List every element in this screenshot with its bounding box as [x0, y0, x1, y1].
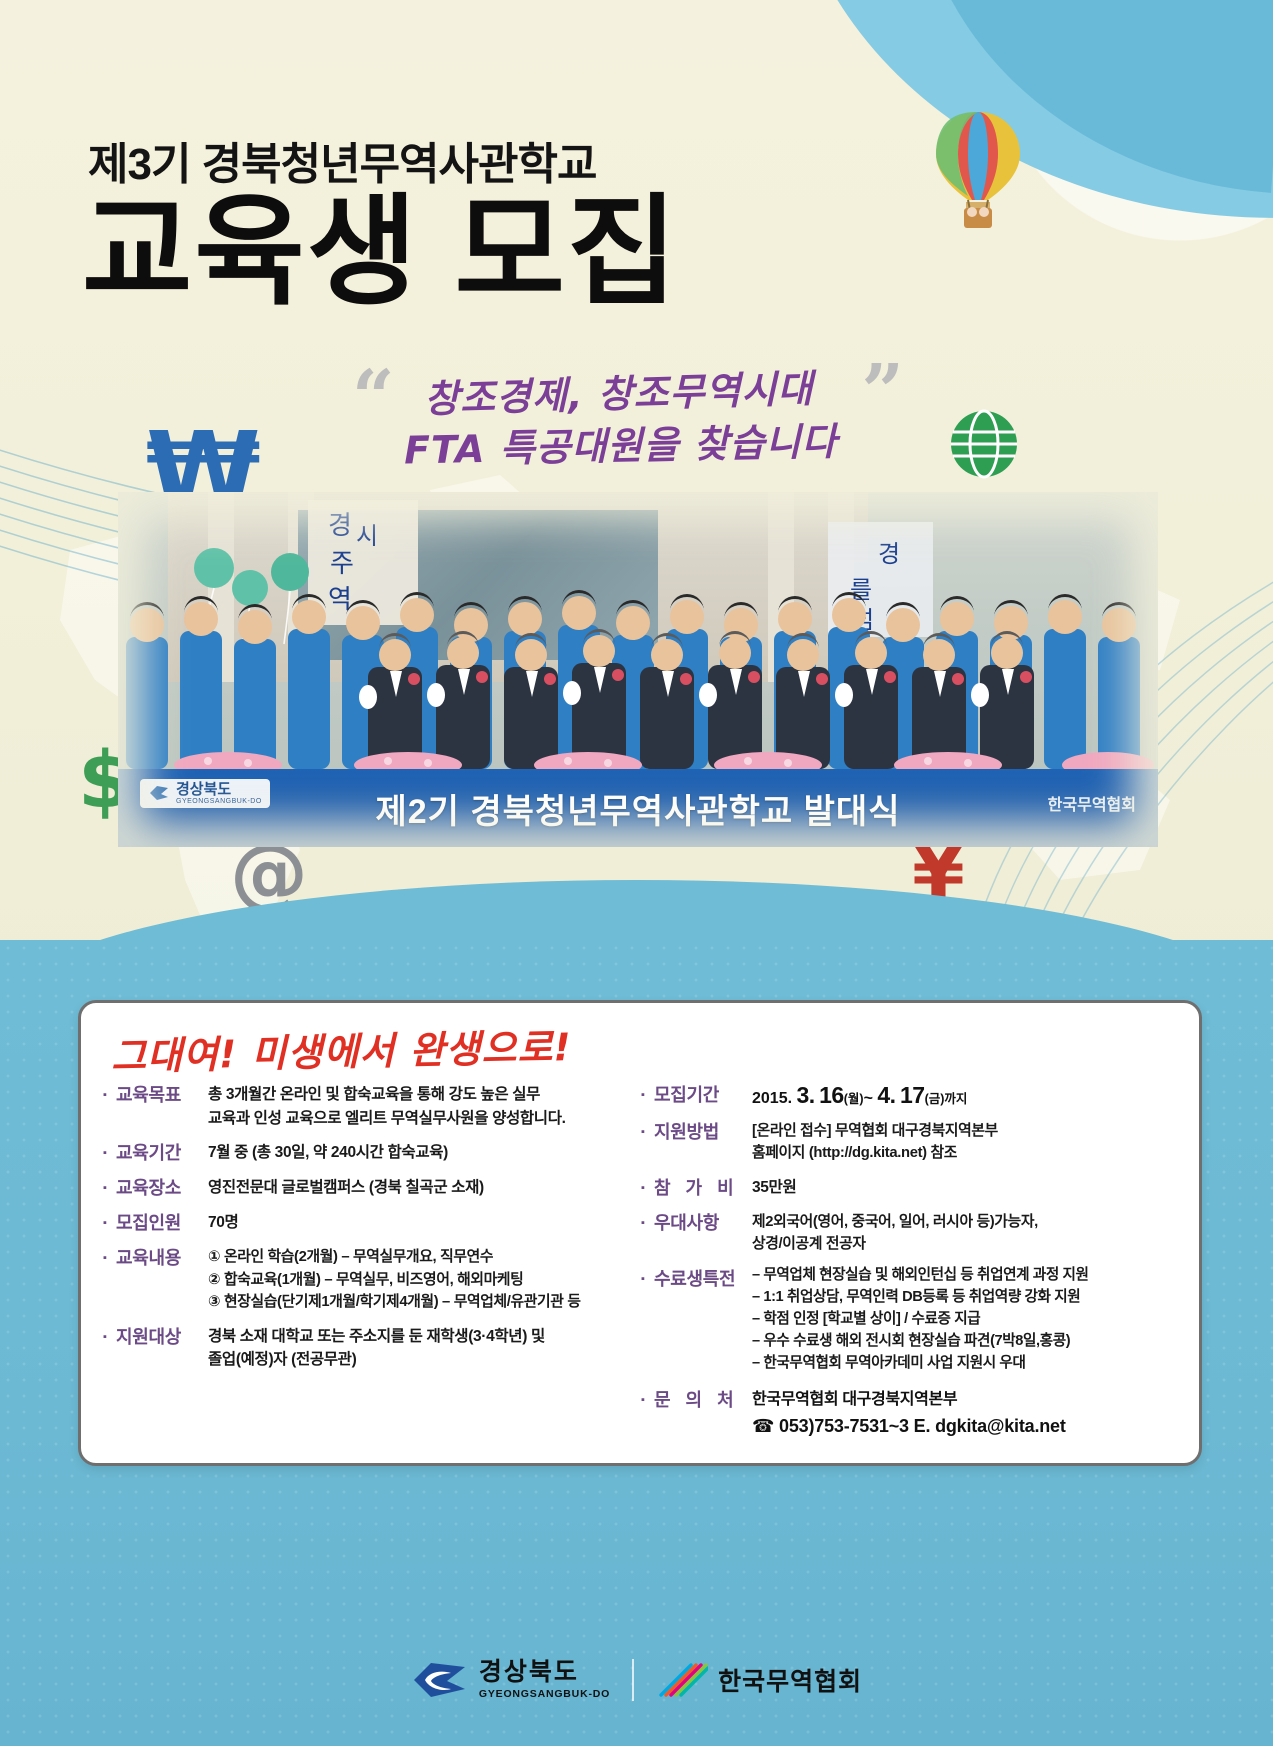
- period-start-month: 3.: [797, 1082, 815, 1108]
- period-year: 2015.: [752, 1090, 792, 1107]
- banner-logo-gb-english: GYEONGSANGBUK-DO: [176, 798, 262, 805]
- contact-phone-email-text: 053)753-7531~3 E. dgkita@kita.net: [779, 1416, 1066, 1436]
- hot-air-balloon-icon: [922, 108, 1034, 238]
- info-value-apply-method: [온라인 접수] 무역협회 대구경북지역본부 홈페이지 (http://dg.k…: [752, 1118, 1181, 1165]
- logo-kita: 한국무역협회: [656, 1659, 862, 1701]
- info-label-period: 모집기간: [654, 1081, 752, 1107]
- info-label-eligibility: 지원대상: [116, 1323, 208, 1349]
- banner-title-text: 제2기 경북청년무역사관학교 발대식: [375, 784, 900, 833]
- bullet-icon: ▪: [641, 1395, 650, 1406]
- contact-office-name: 한국무역협회 대구경북지역본부: [752, 1388, 1181, 1412]
- tagline-line-2: FTA 특공대원을 찾습니다: [403, 410, 838, 474]
- info-label-fee: 참 가 비: [654, 1174, 752, 1200]
- benefit-item: – 한국무역협회 무역아카데미 사업 지원시 우대: [752, 1353, 1089, 1375]
- globe-icon: [948, 408, 1020, 480]
- poster-headline: 교육생 모집: [82, 192, 679, 312]
- bullet-icon: ▪: [103, 1332, 112, 1343]
- info-card-title: 그대여! 미생에서 완생으로!: [110, 1016, 572, 1081]
- benefit-item: – 학점 인정 [학교별 상이] / 수료증 지급: [752, 1309, 1089, 1331]
- phone-icon: ☎: [752, 1416, 774, 1436]
- info-row-venue: ▪ 교육장소 영진전문대 글로벌캠퍼스 (경북 칠곡군 소재): [103, 1174, 633, 1200]
- info-value-eligibility: 경북 소재 대학교 또는 주소지를 둔 재학생(3·4학년) 및 졸업(예정)자…: [208, 1323, 633, 1372]
- info-row-benefits: ▪ 수료생특전 – 무역업체 현장실습 및 해외인턴십 등 취업연계 과정 지원…: [641, 1265, 1181, 1374]
- info-value-venue: 영진전문대 글로벌캠퍼스 (경북 칠곡군 소재): [208, 1174, 633, 1200]
- info-row-contact: ▪ 문 의 처 한국무역협회 대구경북지역본부 ☎ 053)753-7531~3…: [641, 1386, 1181, 1440]
- bullet-icon: ▪: [641, 1274, 650, 1285]
- period-start-dow: (월): [844, 1092, 864, 1106]
- info-row-goal: ▪ 교육목표 총 3개월간 온라인 및 합숙교육을 통해 강도 높은 실무 교육…: [103, 1081, 633, 1130]
- gb-english-label: GYEONGSANGBUK-DO: [479, 1688, 610, 1700]
- info-card: 그대여! 미생에서 완생으로! ▪ 교육목표 총 3개월간 온라인 및 합숙교육…: [78, 1000, 1202, 1466]
- info-value-contact: 한국무역협회 대구경북지역본부 ☎ 053)753-7531~3 E. dgki…: [752, 1386, 1181, 1440]
- info-row-preference: ▪ 우대사항 제2외국어(영어, 중국어, 일어, 러시아 등)가능자, 상경/…: [641, 1209, 1181, 1256]
- apply-method-line1: [온라인 접수] 무역협회 대구경북지역본부: [752, 1120, 1181, 1142]
- gyeongsangbuk-logo-icon: [411, 1659, 469, 1701]
- photo-crowd: [118, 579, 1158, 769]
- bullet-icon: ▪: [641, 1218, 650, 1229]
- preference-line2: 상경/이공계 전공자: [752, 1233, 1181, 1255]
- info-value-preference: 제2외국어(영어, 중국어, 일어, 러시아 등)가능자, 상경/이공계 전공자: [752, 1209, 1181, 1256]
- info-row-eligibility: ▪ 지원대상 경북 소재 대학교 또는 주소지를 둔 재학생(3·4학년) 및 …: [103, 1323, 633, 1372]
- period-suffix: 까지: [944, 1092, 967, 1106]
- info-row-period: ▪ 모집기간 2015. 3. 16(월)~ 4. 17(금)까지: [641, 1081, 1181, 1109]
- info-row-duration: ▪ 교육기간 7월 중 (총 30일, 약 240시간 합숙교육): [103, 1139, 633, 1165]
- info-label-headcount: 모집인원: [116, 1209, 208, 1235]
- banner-logo-kita: 한국무역협회: [1048, 791, 1136, 815]
- photo-event-banner: 경상북도 GYEONGSANGBUK-DO 제2기 경북청년무역사관학교 발대식…: [118, 769, 1158, 847]
- banner-logo-gb-korean: 경상북도: [176, 782, 262, 798]
- info-label-goal: 교육목표: [116, 1081, 208, 1107]
- period-start-day: 16: [819, 1082, 844, 1108]
- info-row-apply-method: ▪ 지원방법 [온라인 접수] 무역협회 대구경북지역본부 홈페이지 (http…: [641, 1118, 1181, 1165]
- logo-gyeongsangbuk: 경상북도 GYEONGSANGBUK-DO: [411, 1659, 610, 1701]
- preference-line1: 제2외국어(영어, 중국어, 일어, 러시아 등)가능자,: [752, 1211, 1181, 1233]
- info-label-preference: 우대사항: [654, 1209, 752, 1235]
- footer-divider: [632, 1659, 634, 1701]
- gyeongsangbuk-mark-icon: [148, 784, 170, 802]
- info-value-headcount: 70명: [208, 1209, 633, 1235]
- info-label-curriculum: 교육내용: [116, 1244, 208, 1270]
- event-photo: 경 시 주 역 경 를 넘: [118, 492, 1158, 847]
- benefit-item: – 무역업체 현장실습 및 해외인턴십 등 취업연계 과정 지원: [752, 1265, 1089, 1287]
- info-column-left: ▪ 교육목표 총 3개월간 온라인 및 합숙교육을 통해 강도 높은 실무 교육…: [103, 1081, 633, 1449]
- banner-logo-gyeongsangbuk: 경상북도 GYEONGSANGBUK-DO: [140, 779, 270, 808]
- bullet-icon: ▪: [641, 1127, 650, 1138]
- gb-korean-label: 경상북도: [479, 1660, 610, 1685]
- info-row-headcount: ▪ 모집인원 70명: [103, 1209, 633, 1235]
- tagline-block: “ ” 창조경제, 창조무역시대 FTA 특공대원을 찾습니다: [352, 355, 892, 465]
- period-end-dow: (금): [925, 1092, 945, 1106]
- bullet-icon: ▪: [103, 1253, 112, 1264]
- gyeongsangbuk-logo-text: 경상북도 GYEONGSANGBUK-DO: [479, 1660, 610, 1700]
- quote-open-icon: “: [352, 361, 395, 435]
- poster-root: 제3기 경북청년무역사관학교 교육생 모집 “ ” 창조경제, 창조무역시대 F…: [0, 0, 1273, 1746]
- info-value-goal-line2: 교육과 인성 교육으로 엘리트 무역실무사원을 양성합니다.: [208, 1107, 633, 1131]
- contact-phone-email: ☎ 053)753-7531~3 E. dgkita@kita.net: [752, 1413, 1181, 1440]
- curriculum-item-2: ② 합숙교육(1개월) – 무역실무, 비즈영어, 해외마케팅: [208, 1269, 633, 1291]
- quote-close-icon: ”: [861, 355, 904, 429]
- info-columns: ▪ 교육목표 총 3개월간 온라인 및 합숙교육을 통해 강도 높은 실무 교육…: [103, 1081, 1181, 1449]
- info-label-duration: 교육기간: [116, 1139, 208, 1165]
- info-value-duration: 7월 중 (총 30일, 약 240시간 합숙교육): [208, 1139, 633, 1165]
- info-label-venue: 교육장소: [116, 1174, 208, 1200]
- svg-text:경: 경: [878, 540, 900, 568]
- bullet-icon: ▪: [103, 1090, 112, 1101]
- info-row-curriculum: ▪ 교육내용 ① 온라인 학습(2개월) – 무역실무개요, 직무연수 ② 합숙…: [103, 1244, 633, 1313]
- benefit-item: – 1:1 취업상담, 무역인력 DB등록 등 취업역량 강화 지원: [752, 1287, 1089, 1309]
- curriculum-item-3: ③ 현장실습(단기제1개월/학기제4개월) – 무역업체/유관기관 등: [208, 1291, 633, 1313]
- apply-method-line2: 홈페이지 (http://dg.kita.net) 참조: [752, 1142, 1181, 1164]
- bullet-icon: ▪: [103, 1218, 112, 1229]
- info-value-goal-line1: 총 3개월간 온라인 및 합숙교육을 통해 강도 높은 실무: [208, 1083, 633, 1107]
- period-tilde: ~: [864, 1090, 873, 1107]
- benefit-item: – 우수 수료생 해외 전시회 현장실습 파견(7박8일,홍콩): [752, 1331, 1089, 1353]
- bullet-icon: ▪: [641, 1090, 650, 1101]
- info-value-goal: 총 3개월간 온라인 및 합숙교육을 통해 강도 높은 실무 교육과 인성 교육…: [208, 1081, 633, 1130]
- info-label-contact: 문 의 처: [654, 1386, 752, 1412]
- info-label-benefits: 수료생특전: [654, 1265, 752, 1291]
- bullet-icon: ▪: [103, 1183, 112, 1194]
- eligibility-line2: 졸업(예정)자 (전공무관): [208, 1348, 633, 1372]
- info-column-right: ▪ 모집기간 2015. 3. 16(월)~ 4. 17(금)까지 ▪ 지원방법…: [641, 1081, 1181, 1449]
- info-value-curriculum: ① 온라인 학습(2개월) – 무역실무개요, 직무연수 ② 합숙교육(1개월)…: [208, 1244, 633, 1313]
- info-label-apply-method: 지원방법: [654, 1118, 752, 1144]
- info-value-fee: 35만원: [752, 1174, 1181, 1200]
- bullet-icon: ▪: [103, 1148, 112, 1159]
- poster-kicker: 제3기 경북청년무역사관학교: [88, 128, 596, 192]
- eligibility-line1: 경북 소재 대학교 또는 주소지를 둔 재학생(3·4학년) 및: [208, 1325, 633, 1349]
- footer-logos: 경상북도 GYEONGSANGBUK-DO 한국무역협회: [0, 1645, 1273, 1715]
- kita-logo-text: 한국무역협회: [718, 1662, 862, 1698]
- period-end-day: 17: [900, 1082, 925, 1108]
- info-row-fee: ▪ 참 가 비 35만원: [641, 1174, 1181, 1200]
- curriculum-item-1: ① 온라인 학습(2개월) – 무역실무개요, 직무연수: [208, 1246, 633, 1268]
- info-value-period: 2015. 3. 16(월)~ 4. 17(금)까지: [752, 1081, 967, 1109]
- benefits-list: – 무역업체 현장실습 및 해외인턴십 등 취업연계 과정 지원 – 1:1 취…: [752, 1265, 1089, 1374]
- period-end-month: 4.: [877, 1082, 895, 1108]
- kita-logo-icon: [656, 1659, 708, 1701]
- bullet-icon: ▪: [641, 1183, 650, 1194]
